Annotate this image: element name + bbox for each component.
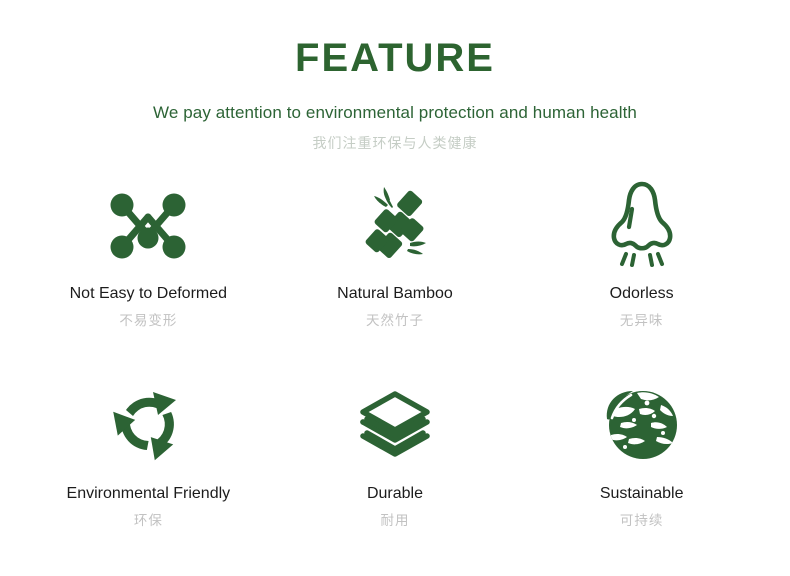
feature-label-english: Durable <box>367 484 423 504</box>
feature-label-chinese: 天然竹子 <box>366 313 424 330</box>
bamboo-stalks-icon <box>358 180 432 272</box>
subtitle-english: We pay attention to environmental protec… <box>0 102 790 124</box>
feature-card-odorless: Odorless 无异味 <box>518 180 765 376</box>
page-header: FEATURE We pay attention to environmenta… <box>0 36 790 152</box>
stacked-layers-icon <box>355 376 435 472</box>
molecule-nodes-icon <box>109 180 187 272</box>
feature-label-chinese: 环保 <box>134 513 163 530</box>
feature-label-chinese: 耐用 <box>380 513 409 530</box>
globe-leaf-icon <box>601 376 683 472</box>
page-title: FEATURE <box>0 36 790 80</box>
feature-label-chinese: 可持续 <box>620 513 664 530</box>
feature-card-environmental-friendly: Environmental Friendly 环保 <box>25 376 272 572</box>
feature-card-sustainable: Sustainable 可持续 <box>518 376 765 572</box>
feature-label-chinese: 无异味 <box>620 313 664 330</box>
nose-icon <box>607 180 677 272</box>
subtitle-chinese: 我们注重环保与人类健康 <box>0 134 790 152</box>
feature-label-english: Natural Bamboo <box>337 284 453 304</box>
feature-grid: Not Easy to Deformed 不易变形 <box>25 180 765 572</box>
feature-card-natural-bamboo: Natural Bamboo 天然竹子 <box>272 180 519 376</box>
feature-card-durable: Durable 耐用 <box>272 376 519 572</box>
feature-label-chinese: 不易变形 <box>119 313 177 330</box>
feature-card-not-easy-to-deformed: Not Easy to Deformed 不易变形 <box>25 180 272 376</box>
feature-label-english: Not Easy to Deformed <box>70 284 227 304</box>
feature-page: FEATURE We pay attention to environmenta… <box>0 0 790 576</box>
feature-label-english: Sustainable <box>600 484 684 504</box>
feature-label-english: Odorless <box>610 284 674 304</box>
recycle-arrows-icon <box>108 376 188 472</box>
feature-label-english: Environmental Friendly <box>67 484 231 504</box>
